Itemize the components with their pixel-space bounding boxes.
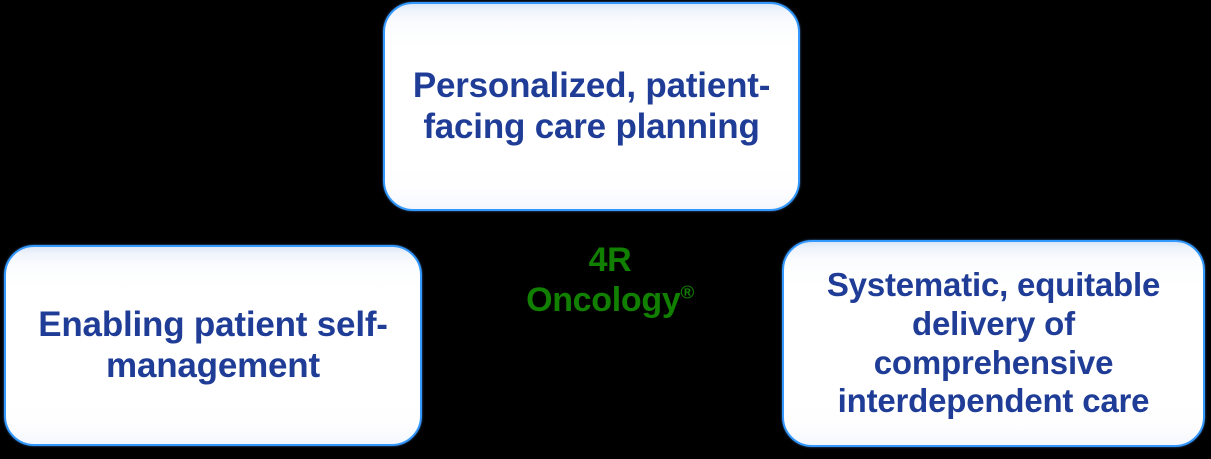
node-label-personalized-care-planning: Personalized, patient- facing care plann… (403, 66, 780, 147)
node-systematic-equitable-delivery[interactable]: Systematic, equitable delivery of compre… (782, 240, 1205, 447)
node-label-systematic-equitable-delivery: Systematic, equitable delivery of compre… (821, 266, 1166, 420)
node-label-patient-self-management: Enabling patient self- management (28, 305, 398, 386)
brand-line-oncology: Oncology® (470, 280, 750, 320)
diagram-canvas: Personalized, patient- facing care plann… (0, 0, 1211, 459)
registered-trademark-icon: ® (680, 282, 693, 303)
center-brand-label: 4R Oncology® (470, 240, 750, 320)
brand-line-4r: 4R (589, 241, 632, 279)
node-personalized-care-planning[interactable]: Personalized, patient- facing care plann… (383, 2, 800, 211)
node-patient-self-management[interactable]: Enabling patient self- management (4, 245, 422, 446)
brand-word-oncology: Oncology (526, 281, 680, 319)
